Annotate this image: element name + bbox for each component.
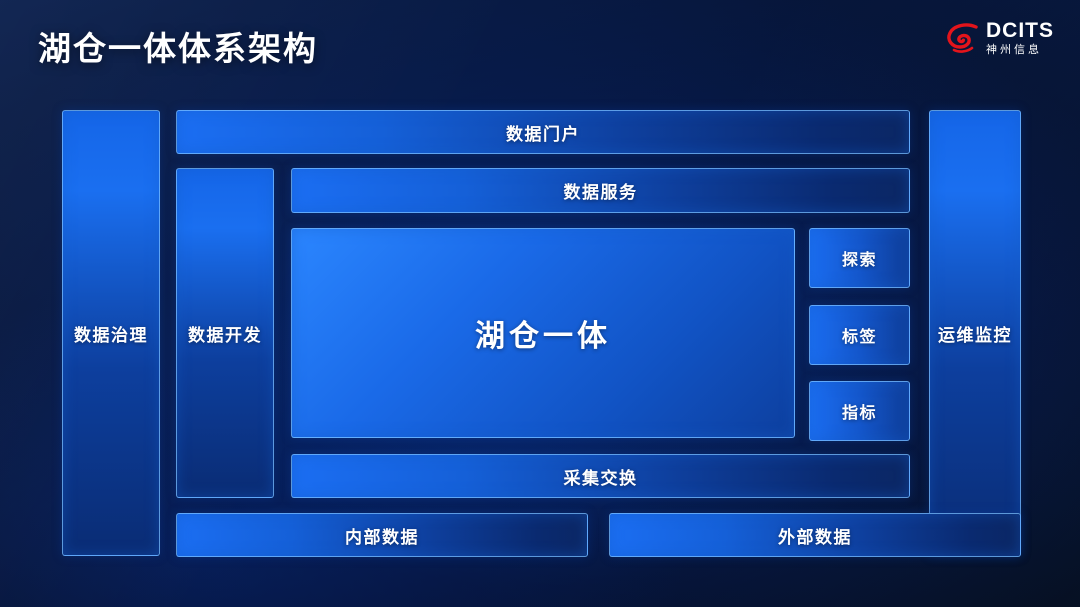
block-collect-exchange[interactable]: 采集交换 xyxy=(291,454,910,498)
block-data-portal[interactable]: 数据门户 xyxy=(176,110,910,154)
dcits-swirl-icon xyxy=(945,21,979,55)
block-data-service[interactable]: 数据服务 xyxy=(291,168,910,213)
block-metric[interactable]: 指标 xyxy=(809,381,910,441)
block-internal-data[interactable]: 内部数据 xyxy=(176,513,588,557)
block-ops-monitoring[interactable]: 运维监控 xyxy=(929,110,1021,556)
block-explore[interactable]: 探索 xyxy=(809,228,910,288)
block-data-development[interactable]: 数据开发 xyxy=(176,168,274,498)
brand-logo: DCITS 神州信息 xyxy=(945,20,1054,56)
logo-english: DCITS xyxy=(986,20,1054,41)
block-external-data[interactable]: 外部数据 xyxy=(609,513,1021,557)
logo-chinese: 神州信息 xyxy=(986,45,1042,56)
page-title: 湖仓一体体系架构 xyxy=(38,22,318,70)
slide-root: 湖仓一体体系架构 DCITS 神州信息 数据治理 运维监控 数据门户 数据开发 … xyxy=(0,0,1080,607)
block-lakehouse-core[interactable]: 湖仓一体 xyxy=(291,228,795,438)
block-data-governance[interactable]: 数据治理 xyxy=(62,110,160,556)
block-tag[interactable]: 标签 xyxy=(809,305,910,365)
logo-text: DCITS 神州信息 xyxy=(986,20,1054,56)
